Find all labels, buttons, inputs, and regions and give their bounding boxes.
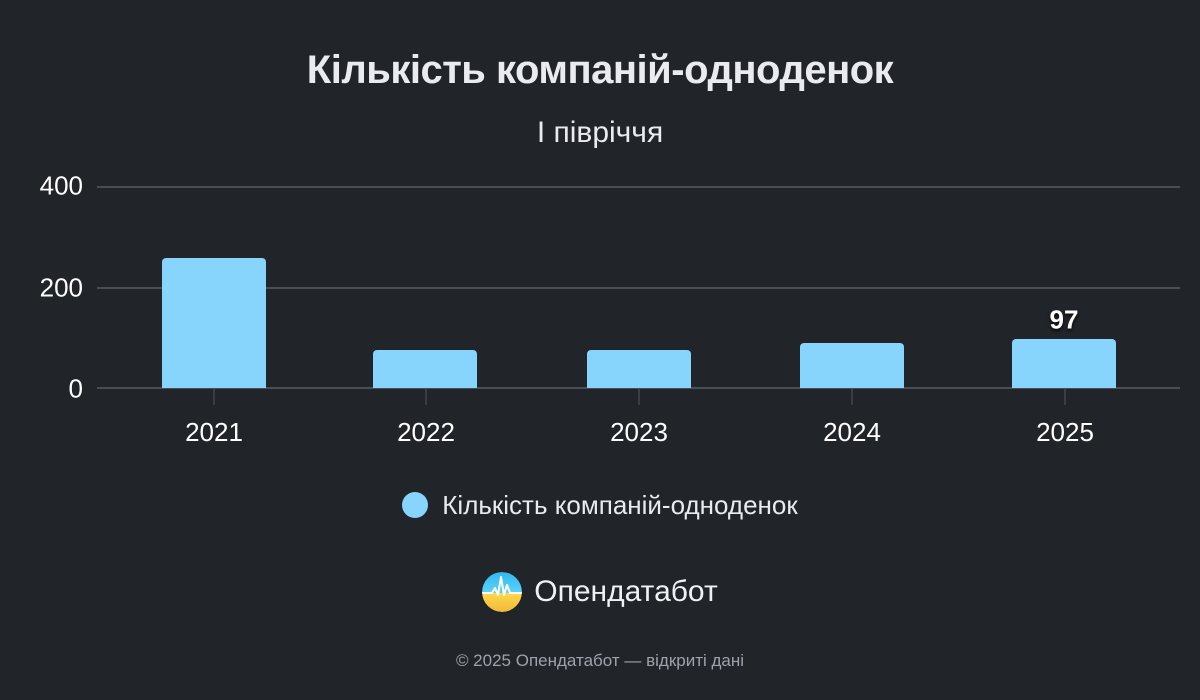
x-axis-tick-mark-2022 bbox=[425, 389, 427, 405]
chart-subtitle: І півріччя bbox=[0, 116, 1200, 151]
chart-title: Кількість компаній-одноденок bbox=[0, 47, 1200, 93]
x-axis-tick-mark-2025 bbox=[1064, 389, 1066, 405]
brand-name: Опендатабот bbox=[534, 577, 717, 607]
bar-2021[interactable] bbox=[162, 258, 266, 388]
bar-2023[interactable] bbox=[587, 350, 691, 388]
bar-2022[interactable] bbox=[373, 350, 477, 388]
opendatabot-logo-icon bbox=[482, 572, 522, 612]
x-axis-tick-mark-2024 bbox=[851, 389, 853, 405]
bar-value-label-2025: 97 bbox=[1050, 305, 1079, 336]
chart-canvas: Кількість компаній-одноденок І півріччя … bbox=[0, 0, 1200, 700]
bar-2025[interactable] bbox=[1012, 339, 1116, 388]
plot-area bbox=[97, 186, 1180, 388]
brand-block: Опендатабот bbox=[0, 572, 1200, 612]
gridline-400 bbox=[97, 186, 1180, 188]
chart-legend: Кількість компаній-одноденок bbox=[0, 492, 1200, 518]
x-axis-tick-mark-2023 bbox=[638, 389, 640, 405]
x-axis-label-2023: 2023 bbox=[610, 417, 668, 448]
y-axis-tick-0: 0 bbox=[0, 374, 83, 405]
bar-2024[interactable] bbox=[800, 343, 904, 388]
y-axis-tick-400: 400 bbox=[0, 171, 83, 202]
legend-item-label[interactable]: Кількість компаній-одноденок bbox=[442, 492, 797, 518]
legend-swatch-icon[interactable] bbox=[402, 492, 428, 518]
x-axis-tick-mark-2021 bbox=[213, 389, 215, 405]
x-axis-label-2024: 2024 bbox=[823, 417, 881, 448]
x-axis-label-2021: 2021 bbox=[185, 417, 243, 448]
x-axis-label-2022: 2022 bbox=[397, 417, 455, 448]
x-axis-label-2025: 2025 bbox=[1036, 417, 1094, 448]
footer-copyright: © 2025 Опендатабот — відкриті дані bbox=[0, 651, 1200, 671]
y-axis-tick-200: 200 bbox=[0, 273, 83, 304]
